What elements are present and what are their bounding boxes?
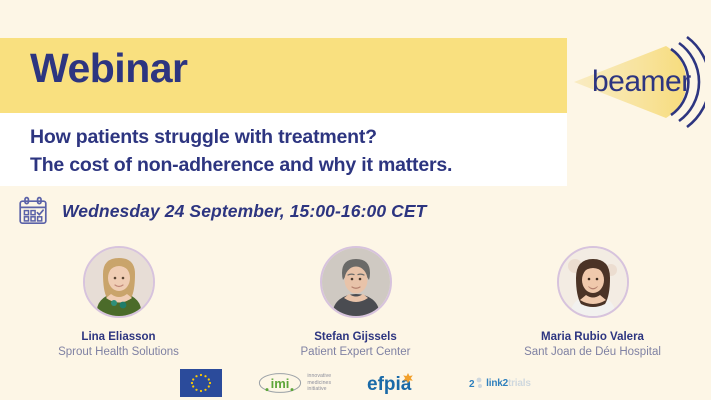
efpia-logo: efpia — [367, 370, 433, 396]
portrait-maria-rubio-valera — [557, 246, 629, 318]
calendar-check-icon — [18, 196, 48, 226]
speaker-name: Stefan Gijssels — [314, 331, 396, 343]
imi-tagline-line-2: medicines — [307, 380, 331, 387]
speakers-row: Lina Eliasson Sprout Health Solutions St… — [0, 246, 711, 358]
speaker-card: Stefan Gijssels Patient Expert Center — [237, 246, 474, 358]
portrait-stefan-gijssels — [320, 246, 392, 318]
imi-tagline: innovative medicines initiative — [307, 373, 331, 394]
beamer-logo: beamer — [570, 32, 705, 132]
speaker-card: Maria Rubio Valera Sant Joan de Déu Hosp… — [474, 246, 711, 358]
schedule-text: Wednesday 24 September, 15:00-16:00 CET — [62, 201, 426, 222]
imi-logo: imi innovative medicines initiative — [258, 372, 331, 394]
webinar-label: Webinar — [30, 48, 188, 89]
svg-text:beamer: beamer — [592, 65, 691, 98]
speaker-name: Maria Rubio Valera — [541, 331, 644, 343]
portrait-lina-eliasson — [83, 246, 155, 318]
speaker-name: Lina Eliasson — [81, 331, 155, 343]
imi-tagline-line-1: innovative — [307, 373, 331, 380]
speaker-org: Patient Expert Center — [301, 346, 411, 358]
speaker-org: Sant Joan de Déu Hospital — [524, 346, 661, 358]
imi-tagline-line-3: initiative — [307, 386, 331, 393]
speaker-org: Sprout Health Solutions — [58, 346, 179, 358]
link2trials-wordmark: link2trials — [486, 378, 531, 389]
svg-text:imi: imi — [271, 376, 290, 391]
webinar-headline: How patients struggle with treatment? Th… — [30, 124, 452, 179]
speaker-card: Lina Eliasson Sprout Health Solutions — [0, 246, 237, 358]
partner-logos-row: imi innovative medicines initiative efpi… — [0, 368, 711, 398]
eu-flag-logo — [180, 369, 222, 397]
link2trials-logo: 2 link2trials — [469, 375, 531, 391]
headline-line-2: The cost of non-adherence and why it mat… — [30, 152, 452, 180]
schedule-row: Wednesday 24 September, 15:00-16:00 CET — [18, 196, 426, 226]
svg-text:2: 2 — [469, 379, 475, 390]
headline-line-1: How patients struggle with treatment? — [30, 124, 452, 152]
